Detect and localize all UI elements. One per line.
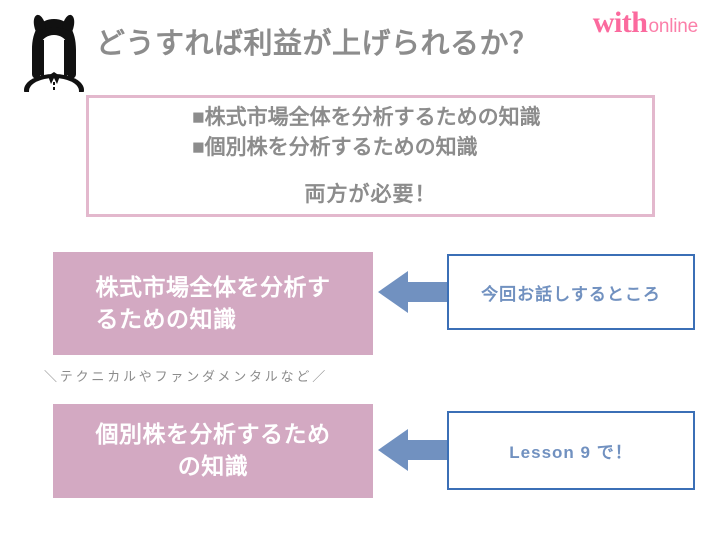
brand-logo-with: with [593, 8, 648, 38]
callout-box-lesson-reference: Lesson 9 で！ [447, 411, 695, 490]
knowledge-box-individual: 個別株を分析するための知識 [53, 404, 373, 498]
callout-box-lesson-reference-label: Lesson 9 で！ [509, 438, 632, 463]
brand-logo-online: online [648, 17, 698, 36]
page-title: どうすれば利益が上げられるか？ [96, 26, 556, 62]
requirements-bullet-item: ■株式市場全体を分析するための知識 [192, 103, 632, 133]
brand-logo: withonline [566, 8, 698, 38]
knowledge-box-individual-label: 個別株を分析するための知識 [96, 419, 331, 482]
slide-canvas: withonline どうすれば利益が上げられるか？ [0, 0, 720, 540]
knowledge-box-market-label: 株式市場全体を分析するための知識 [96, 272, 331, 335]
requirements-conclusion: 両方が必要！ [89, 178, 652, 208]
technical-note: ＼テクニカルやファンダメンタルなど／ [44, 366, 394, 385]
callout-box-current-topic: 今回お話しするところ [447, 254, 695, 330]
requirements-bullet-item: ■個別株を分析するための知識 [192, 133, 632, 163]
callout-box-current-topic-label: 今回お話しするところ [481, 280, 661, 305]
woman-silhouette-avatar-icon [18, 10, 90, 92]
knowledge-box-market: 株式市場全体を分析するための知識 [53, 252, 373, 355]
requirements-bullet-list: ■株式市場全体を分析するための知識 ■個別株を分析するための知識 [192, 103, 632, 163]
requirements-box: ■株式市場全体を分析するための知識 ■個別株を分析するための知識 両方が必要！ [86, 95, 655, 217]
